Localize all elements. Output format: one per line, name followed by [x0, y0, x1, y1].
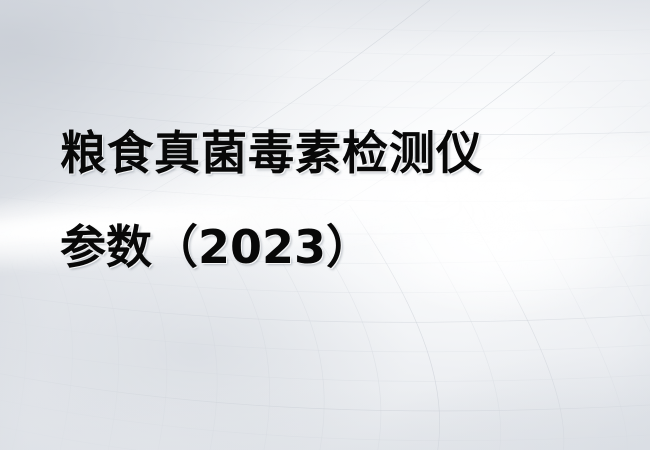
title-block: 粮食真菌毒素检测仪 参数（2023）: [60, 130, 600, 270]
title-banner: 粮食真菌毒素检测仪 参数（2023）: [0, 0, 650, 450]
title-line-2: 参数（2023）: [60, 224, 600, 270]
title-line-1: 粮食真菌毒素检测仪: [60, 130, 600, 176]
